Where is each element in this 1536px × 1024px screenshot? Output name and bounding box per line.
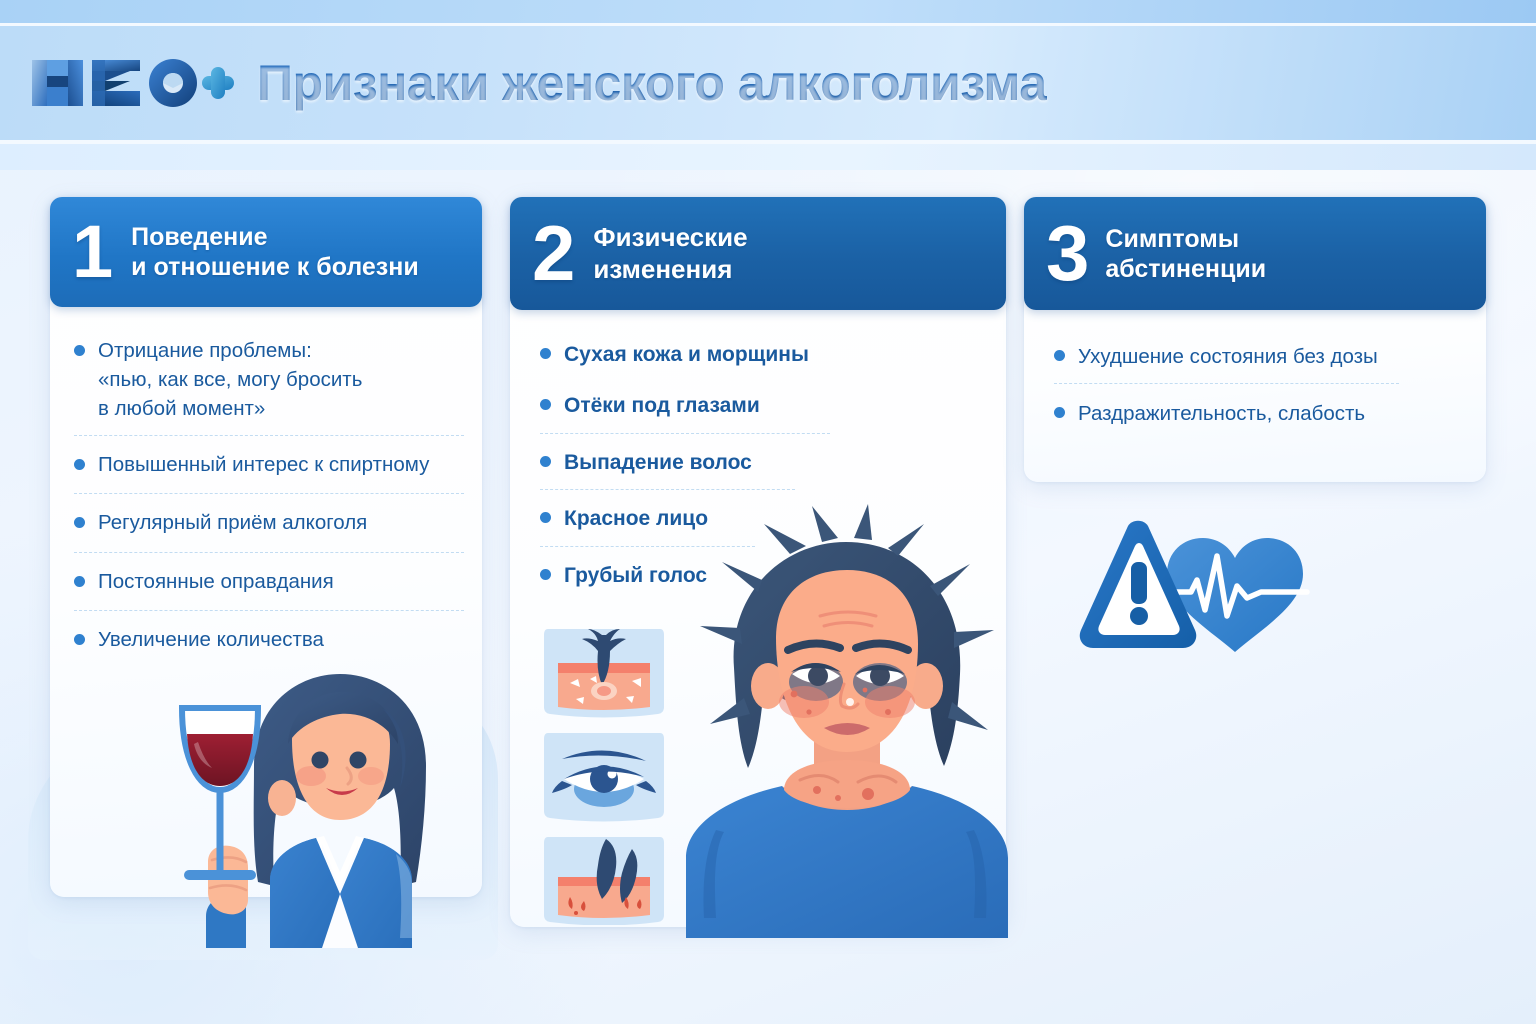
page-title: Признаки женского алкоголизма [257, 54, 1047, 112]
card-bullet-list: Ухудшение состояния без дозы Раздражител… [1054, 342, 1464, 428]
bullet-dot [540, 399, 551, 410]
list-item-label: Ухудшение состояния без дозы [1078, 342, 1378, 371]
symptom-icon-tiles [540, 625, 668, 925]
header-top-strip [0, 0, 1536, 23]
bullet-dot [74, 345, 85, 356]
card-title-line1: Поведение [131, 223, 267, 251]
list-divider [74, 435, 464, 436]
bullet-dot [540, 456, 551, 467]
card-header: 2 Физические изменения [510, 197, 1006, 310]
list-item-label: Сухая кожа и морщины [564, 340, 809, 370]
list-divider [1054, 383, 1399, 384]
card-title-line2: и отношение к болезни [131, 252, 419, 282]
list-divider [540, 489, 795, 490]
tired-woman-face-illustration [672, 498, 1022, 938]
list-divider [540, 433, 830, 434]
bullet-dot [74, 634, 85, 645]
list-item[interactable]: Регулярный приём алкоголя [74, 508, 464, 537]
poster-header: Признаки женского алкоголизма [0, 23, 1536, 144]
list-item-label: Выпадение волос [564, 448, 752, 478]
neo-plus-logo-icon[interactable] [30, 54, 235, 112]
skin-dry-icon [544, 629, 664, 718]
bullet-dot [74, 576, 85, 587]
list-divider [74, 610, 464, 611]
list-item[interactable]: Отрицание проблемы: «пью, как все, могу … [74, 336, 464, 423]
list-item-label: Отрицание проблемы: «пью, как все, могу … [98, 336, 362, 423]
card-header: 3 Симптомы абстиненции [1024, 197, 1486, 310]
card-bullet-list: Отрицание проблемы: «пью, как все, могу … [74, 336, 464, 654]
card-number: 1 [72, 218, 113, 286]
card-title: Физические изменения [593, 222, 747, 284]
bullet-dot [1054, 407, 1065, 418]
bullet-dot [74, 517, 85, 528]
list-item[interactable]: Раздражительность, слабость [1054, 399, 1464, 428]
list-item[interactable]: Постоянные оправдания [74, 567, 464, 596]
infographic-poster: Признаки женского алкоголизма 1 Поведени… [0, 0, 1536, 1024]
withdrawal-warning-illustration [1045, 512, 1320, 672]
list-divider [74, 493, 464, 494]
list-item-label: Постоянные оправдания [98, 567, 334, 596]
list-item-label: Регулярный приём алкоголя [98, 508, 367, 537]
bullet-dot [540, 348, 551, 359]
header-bottom-strip [0, 144, 1536, 170]
card-header: 1 Поведение и отношение к болезни [50, 197, 482, 307]
list-item-label: Повышенный интерес к спиртному [98, 450, 429, 479]
woman-with-wine-glass-illustration [150, 648, 490, 948]
card-title-line2: абстиненции [1105, 254, 1266, 284]
card-title-line1: Физические [593, 222, 747, 252]
card-number: 3 [1046, 218, 1089, 290]
list-item[interactable]: Ухудшение состояния без дозы [1054, 342, 1464, 371]
card-title: Поведение и отношение к болезни [131, 222, 419, 282]
bullet-dot [540, 512, 551, 523]
list-divider [74, 552, 464, 553]
card-number: 2 [532, 218, 575, 290]
card-title-line2: изменения [593, 254, 747, 285]
list-item-label: Раздражительность, слабость [1078, 399, 1365, 428]
card-title-line1: Симптомы [1105, 225, 1239, 253]
card-title: Симптомы абстиненции [1105, 224, 1266, 284]
list-item[interactable]: Сухая кожа и морщины [540, 340, 960, 370]
list-item-label: Отёки под глазами [564, 391, 760, 421]
bullet-dot [540, 569, 551, 580]
bullet-dot [74, 459, 85, 470]
list-item[interactable]: Выпадение волос [540, 448, 960, 478]
eye-bags-icon [544, 733, 664, 822]
list-item[interactable]: Отёки под глазами [540, 391, 960, 421]
hair-loss-icon [544, 837, 664, 925]
bullet-dot [1054, 350, 1065, 361]
list-item[interactable]: Повышенный интерес к спиртному [74, 450, 464, 479]
